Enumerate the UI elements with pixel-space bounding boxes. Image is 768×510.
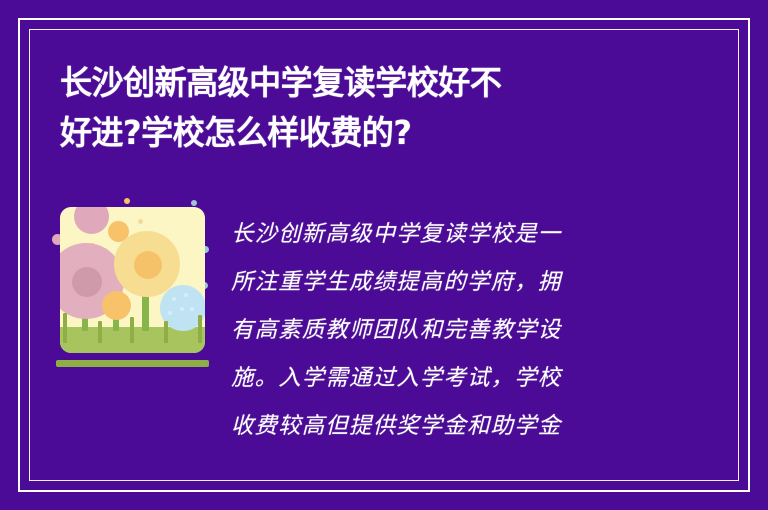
flower-garden-illustration [52, 198, 216, 370]
headline-title: 长沙创新高级中学复读学校好不 好进?学校怎么样收费的? [60, 58, 700, 158]
blue-bloom-speck-1 [172, 297, 176, 301]
grass-blade-4 [164, 321, 168, 343]
orange-bloom-small [102, 291, 131, 320]
grass-blade-3 [130, 317, 134, 343]
body-paragraph: 长沙创新高级中学复读学校是一 所注重学生成绩提高的学府，拥 有高素质教师团队和完… [231, 210, 651, 450]
illustration-card [60, 207, 205, 353]
blue-bloom-speck-2 [184, 293, 188, 297]
blue-bloom-speck-3 [180, 307, 184, 311]
body-line-2: 所注重学生成绩提高的学府，拥 [231, 258, 651, 306]
body-line-4: 施。入学需通过入学考试，学校 [231, 354, 651, 402]
pink-bloom-large-core [72, 267, 102, 297]
body-line-3: 有高素质教师团队和完善教学设 [231, 306, 651, 354]
accent-dot-blue-topright [191, 200, 197, 206]
blue-bloom-speck-4 [168, 311, 172, 315]
pink-bloom-small [74, 207, 109, 234]
planter-base-bar [56, 360, 209, 367]
headline-line-1: 长沙创新高级中学复读学校好不 [60, 58, 681, 108]
grass-blade-2 [98, 321, 102, 343]
headline-line-2: 好进?学校怎么样收费的? [60, 108, 681, 158]
body-line-1: 长沙创新高级中学复读学校是一 [231, 210, 651, 258]
poster-canvas: 长沙创新高级中学复读学校好不 好进?学校怎么样收费的? [0, 0, 768, 510]
grass-blade-5 [198, 315, 202, 343]
accent-dot-orange-top [124, 198, 130, 204]
body-line-5: 收费较高但提供奖学金和助学金 [231, 402, 651, 450]
accent-dot-cream-upper [138, 219, 143, 224]
yellow-bloom-large-core [134, 251, 162, 279]
grass-blade-1 [63, 313, 67, 343]
blue-bloom-speck-5 [190, 307, 194, 311]
